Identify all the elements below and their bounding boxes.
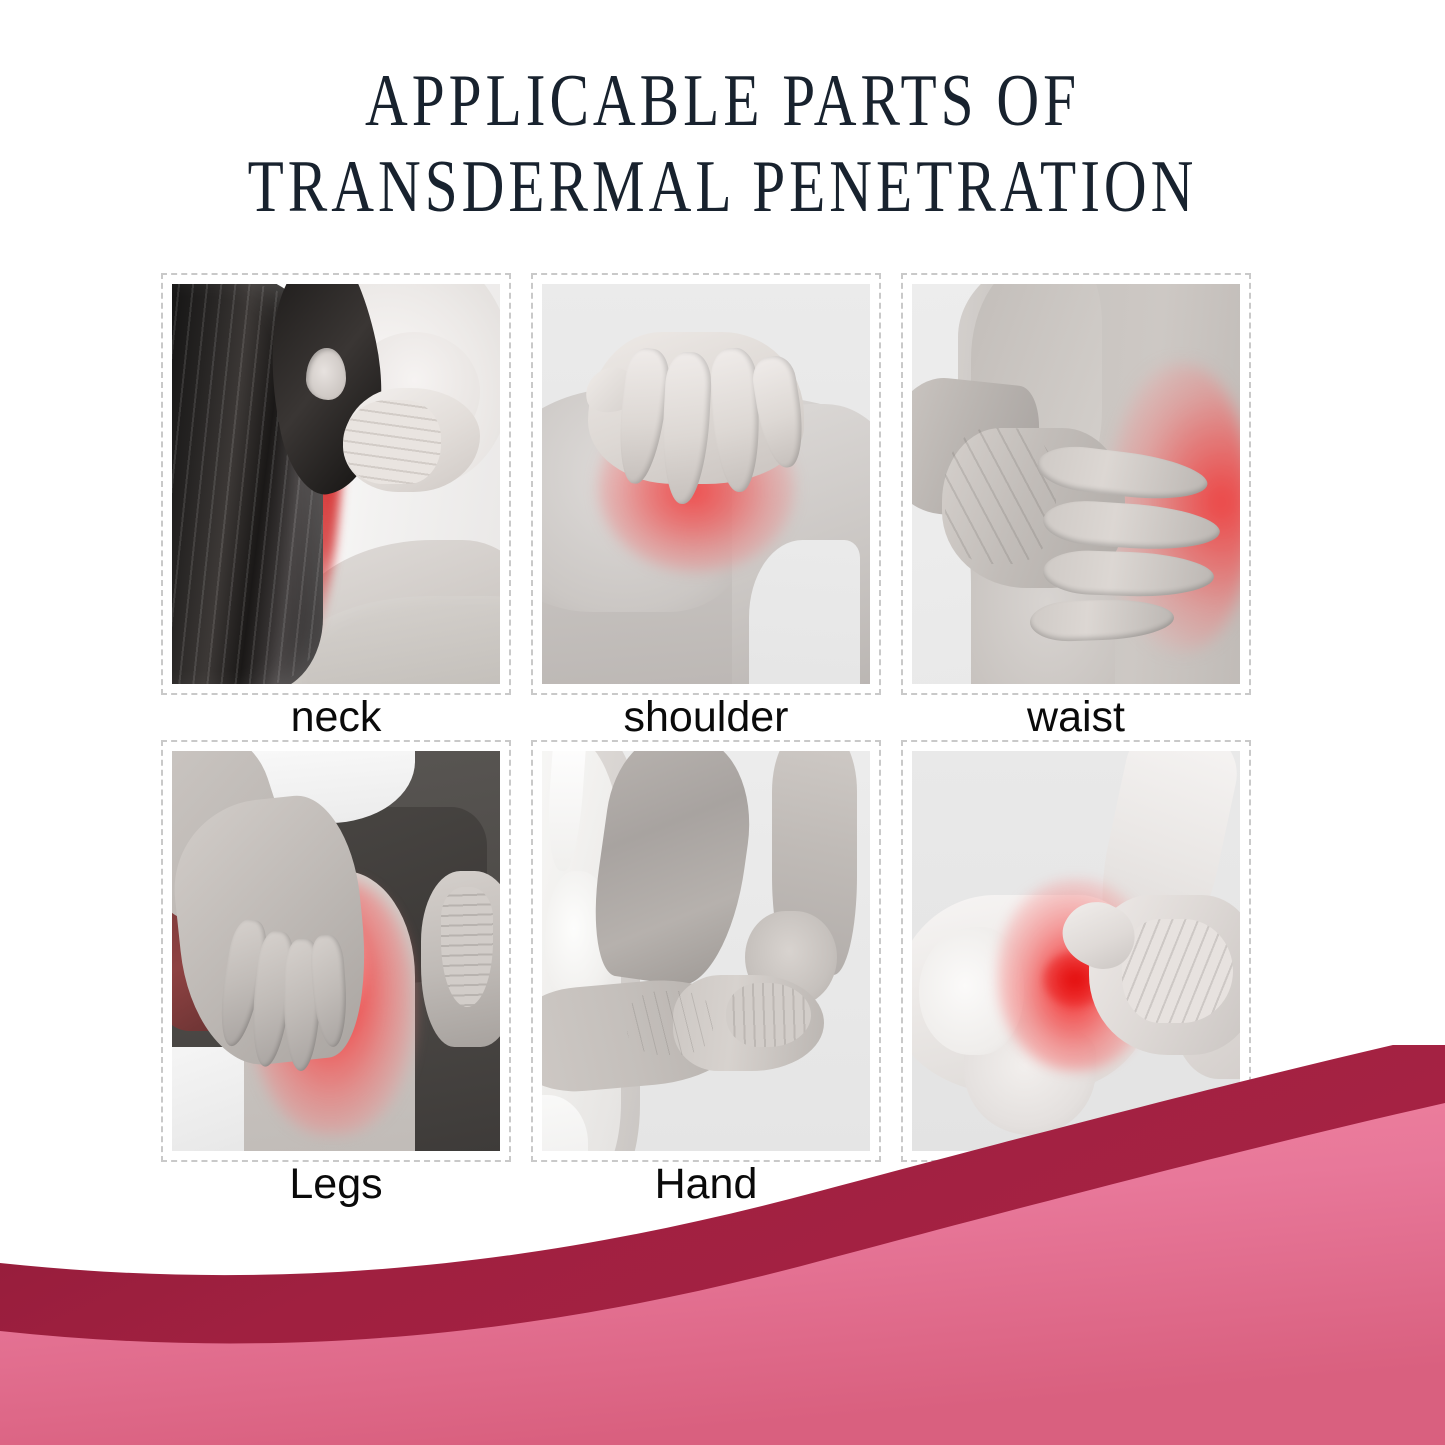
grid-label-feet: Feet <box>901 1162 1251 1207</box>
grid-label-hand: Hand <box>531 1162 881 1207</box>
grid-cell-waist[interactable] <box>901 273 1251 695</box>
page-title: APPLICABLE PARTS OF TRANSDERMAL PENETRAT… <box>0 58 1445 230</box>
legs-photo <box>172 751 500 1151</box>
feet-photo <box>912 751 1240 1151</box>
grid-label-legs: Legs <box>161 1162 511 1207</box>
infographic-page: APPLICABLE PARTS OF TRANSDERMAL PENETRAT… <box>0 0 1445 1445</box>
grid-label-shoulder: shoulder <box>531 695 881 740</box>
grid-label-neck: neck <box>161 695 511 740</box>
waist-photo <box>912 284 1240 684</box>
grid-cell-shoulder[interactable] <box>531 273 881 695</box>
body-parts-grid: neck shoulder <box>161 273 1251 1233</box>
grid-cell-feet[interactable] <box>901 740 1251 1162</box>
grid-cell-legs[interactable] <box>161 740 511 1162</box>
page-title-line-1: APPLICABLE PARTS OF <box>145 58 1301 144</box>
page-title-line-2: TRANSDERMAL PENETRATION <box>145 144 1301 230</box>
neck-photo <box>172 284 500 684</box>
grid-cell-neck[interactable] <box>161 273 511 695</box>
hand-photo <box>542 751 870 1151</box>
grid-label-waist: waist <box>901 695 1251 740</box>
grid-cell-hand[interactable] <box>531 740 881 1162</box>
shoulder-photo <box>542 284 870 684</box>
